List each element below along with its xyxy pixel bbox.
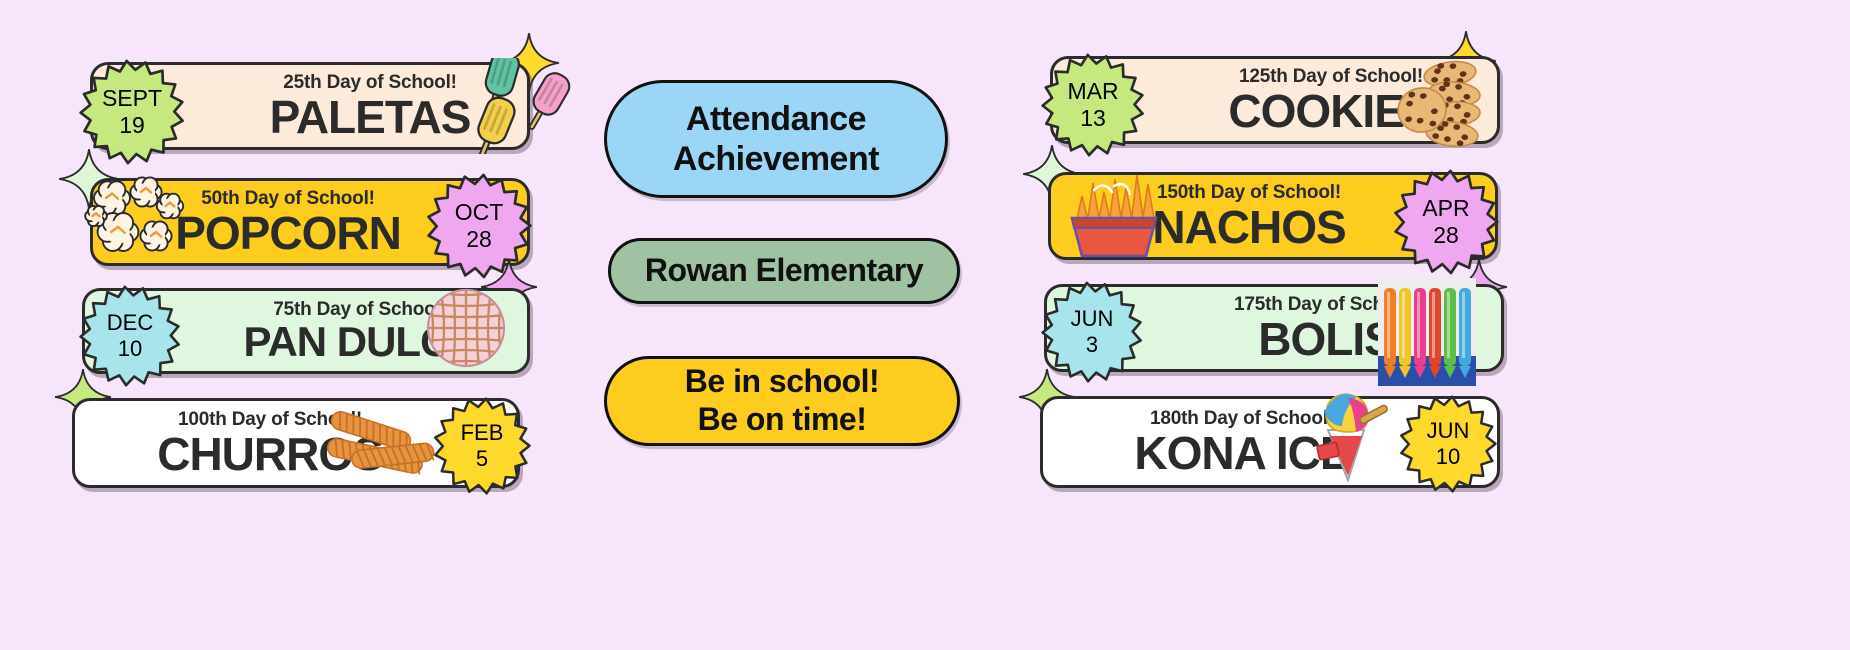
badge-month: FEB	[461, 420, 504, 446]
badge-day: 28	[466, 226, 492, 253]
pill-school-name[interactable]: Rowan Elementary	[608, 238, 960, 304]
day-of-school-label: 150th Day of School!	[1157, 182, 1341, 204]
badge-day: 10	[118, 336, 142, 362]
pill-label: Be in school!Be on time!	[685, 363, 879, 439]
treat-name: POPCORN	[175, 210, 401, 257]
badge-day: 10	[1436, 444, 1460, 470]
treat-name: NACHOS	[1152, 204, 1345, 251]
badge-day: 19	[119, 112, 145, 139]
nachos-icon	[1058, 166, 1170, 262]
badge-month: SEPT	[102, 85, 162, 112]
pill-slogan[interactable]: Be in school!Be on time!	[604, 356, 960, 446]
date-badge-text: FEB5	[432, 396, 532, 496]
pill-label-line2: Be on time!	[685, 401, 879, 439]
bolis-icon	[1378, 278, 1476, 386]
cookies-icon	[1392, 54, 1492, 150]
pill-label: Rowan Elementary	[645, 252, 923, 290]
pill-attendance-achievement[interactable]: AttendanceAchievement	[604, 80, 948, 198]
date-badge: FEB5	[432, 396, 532, 496]
card-text-block: 175th Day of School!BOLIS	[1099, 293, 1553, 363]
date-badge-text: JUN10	[1398, 394, 1498, 494]
card-text-block: 75th Day of School!PAN DULCE	[139, 297, 581, 365]
badge-month: JUN	[1071, 306, 1114, 332]
date-badge: MAR13	[1040, 52, 1146, 158]
date-badge: JUN10	[1398, 394, 1498, 494]
pill-label-line2: Achievement	[673, 139, 879, 179]
snowcone-icon	[1298, 388, 1394, 484]
badge-day: 5	[476, 446, 488, 472]
treat-name: BOLIS	[1258, 316, 1394, 363]
pill-label-line1: Be in school!	[685, 363, 879, 401]
badge-month: JUN	[1427, 418, 1470, 444]
day-of-school-label: 25th Day of School!	[283, 72, 457, 94]
date-badge-text: MAR13	[1040, 52, 1146, 158]
badge-day: 13	[1080, 105, 1106, 132]
treat-name: PALETAS	[270, 94, 471, 141]
pill-label-line1: Attendance	[673, 99, 879, 139]
badge-month: OCT	[455, 199, 504, 226]
badge-month: MAR	[1067, 78, 1118, 105]
concha-icon	[420, 282, 512, 374]
popcorn-icon	[84, 172, 194, 264]
poster-canvas: 25th Day of School!PALETASSEPT1950th Day…	[0, 0, 1850, 650]
churros-icon	[322, 394, 448, 480]
badge-day: 3	[1086, 332, 1098, 358]
badge-month: DEC	[107, 310, 153, 336]
badge-month: APR	[1422, 195, 1469, 222]
pill-label: AttendanceAchievement	[673, 99, 879, 179]
badge-day: 28	[1433, 222, 1459, 249]
day-of-school-label: 50th Day of School!	[201, 188, 375, 210]
popsicle-icon	[455, 58, 575, 154]
